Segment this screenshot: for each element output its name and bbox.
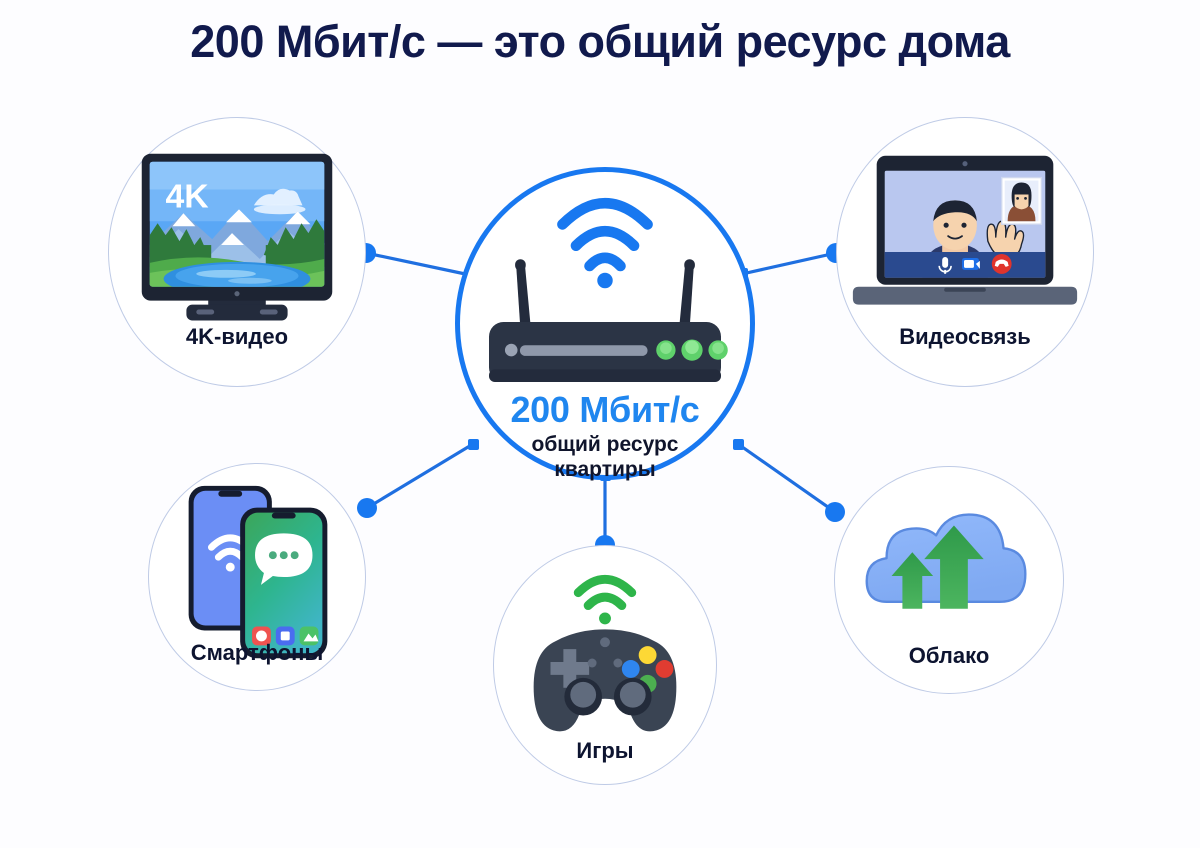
end-call-icon <box>992 254 1012 274</box>
hub-subtitle-line2: квартиры <box>460 458 750 483</box>
chat-bubble-icon <box>255 533 312 585</box>
infographic-canvas: 200 Мбит/с — это общий ресурс дома <box>0 0 1200 848</box>
camera-icon <box>962 258 980 270</box>
hub-subtitle: общий ресурс квартиры <box>460 433 750 483</box>
wifi-icon <box>211 538 249 572</box>
hub-router[interactable]: 200 Мбит/с общий ресурс квартиры <box>455 167 755 480</box>
node-smartphones-label: Смартфоны <box>149 640 365 666</box>
hub-subtitle-line1: общий ресурс <box>460 433 750 458</box>
node-smartphones[interactable]: Смартфоны <box>148 463 366 691</box>
node-tv-label: 4K-видео <box>109 324 365 350</box>
node-video-call[interactable]: Видеосвязь <box>836 117 1094 387</box>
node-cloud[interactable]: Облако <box>834 466 1064 694</box>
node-games[interactable]: Игры <box>493 545 717 785</box>
node-tv[interactable]: 4K 4K-видео <box>108 117 366 387</box>
microphone-icon <box>939 257 951 274</box>
wifi-icon-green <box>578 579 632 624</box>
wifi-icon-blue <box>562 203 647 288</box>
hub-speed-value: 200 Мбит/с <box>460 389 750 431</box>
node-cloud-label: Облако <box>835 643 1063 669</box>
svg-text:4K: 4K <box>166 177 210 215</box>
node-games-label: Игры <box>494 738 716 764</box>
node-video-call-label: Видеосвязь <box>837 324 1093 350</box>
